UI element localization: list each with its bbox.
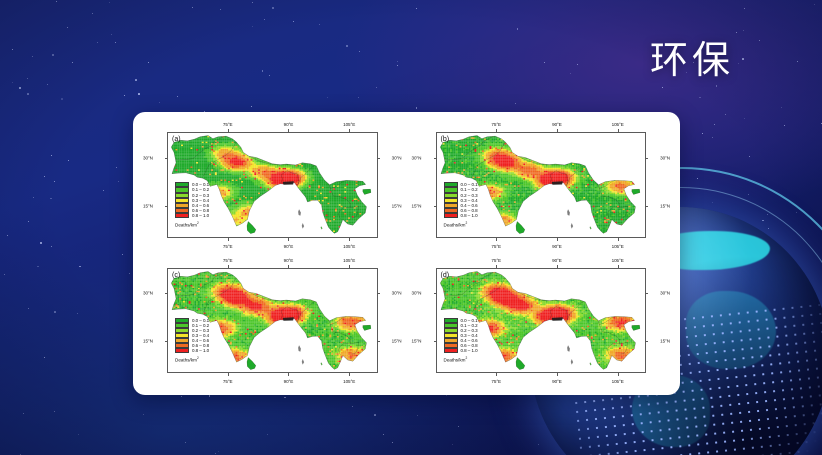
x-tick-top: 75°E bbox=[223, 258, 233, 263]
panel-tag: (a) bbox=[172, 136, 181, 143]
slide-root: 环保 75°E75°E90°E90°E105°E105°E30°N30°N15°… bbox=[0, 0, 822, 455]
map-panel-d: 75°E75°E90°E90°E105°E105°E30°N30°N15°N15… bbox=[410, 254, 673, 388]
legend-label: 0.8 – 1.0 bbox=[461, 213, 478, 218]
page-title: 环保 bbox=[650, 40, 734, 84]
legend-label: 0.8 – 1.0 bbox=[192, 213, 209, 218]
legend-row: 0.8 – 1.0 bbox=[444, 348, 478, 353]
x-tick-top: 90°E bbox=[284, 122, 294, 127]
y-tick-left: 15°N bbox=[412, 339, 422, 344]
panel-tag: (b) bbox=[441, 136, 450, 143]
x-tick-bottom: 75°E bbox=[223, 244, 233, 249]
y-tick-left: 30°N bbox=[143, 155, 153, 160]
panel-tag: (d) bbox=[441, 272, 450, 279]
map-panel-grid: 75°E75°E90°E90°E105°E105°E30°N30°N15°N15… bbox=[141, 118, 672, 387]
map-axis-box: (a)0.0 – 0.10.1 – 0.20.2 – 0.30.3 – 0.40… bbox=[167, 132, 378, 238]
x-tick-bottom: 75°E bbox=[491, 379, 501, 384]
map-panel-c: 75°E75°E90°E90°E105°E105°E30°N30°N15°N15… bbox=[141, 254, 404, 388]
x-tick-mark bbox=[349, 238, 350, 241]
y-tick-right: 30°N bbox=[392, 155, 402, 160]
x-tick-top: 105°E bbox=[612, 122, 624, 127]
x-tick-top: 75°E bbox=[223, 122, 233, 127]
x-tick-mark bbox=[288, 373, 289, 376]
map-legend: 0.0 – 0.10.1 – 0.20.2 – 0.30.3 – 0.40.4 … bbox=[175, 182, 209, 227]
x-tick-bottom: 105°E bbox=[612, 244, 624, 249]
x-tick-top: 105°E bbox=[343, 122, 355, 127]
legend-swatch bbox=[175, 348, 189, 353]
map-panel-b: 75°E75°E90°E90°E105°E105°E30°N30°N15°N15… bbox=[410, 118, 673, 252]
y-tick-left: 15°N bbox=[143, 203, 153, 208]
legend-row: 0.8 – 1.0 bbox=[175, 213, 209, 218]
y-tick-right: 15°N bbox=[660, 203, 670, 208]
x-tick-mark bbox=[349, 373, 350, 376]
map-legend: 0.0 – 0.10.1 – 0.20.2 – 0.30.3 – 0.40.4 … bbox=[444, 182, 478, 227]
x-tick-mark bbox=[496, 373, 497, 376]
legend-swatch bbox=[444, 213, 458, 218]
x-tick-bottom: 75°E bbox=[491, 244, 501, 249]
map-legend: 0.0 – 0.10.1 – 0.20.2 – 0.30.3 – 0.40.4 … bbox=[444, 318, 478, 363]
y-tick-right: 15°N bbox=[660, 339, 670, 344]
x-tick-mark bbox=[618, 238, 619, 241]
map-panel-a: 75°E75°E90°E90°E105°E105°E30°N30°N15°N15… bbox=[141, 118, 404, 252]
x-tick-top: 75°E bbox=[491, 122, 501, 127]
x-tick-top: 90°E bbox=[552, 258, 562, 263]
x-tick-mark bbox=[228, 238, 229, 241]
y-tick-left: 30°N bbox=[143, 291, 153, 296]
legend-unit: Deaths/km2 bbox=[175, 356, 209, 363]
x-tick-bottom: 105°E bbox=[343, 379, 355, 384]
y-tick-left: 15°N bbox=[412, 203, 422, 208]
x-tick-top: 90°E bbox=[552, 122, 562, 127]
map-axis-box: (b)0.0 – 0.10.1 – 0.20.2 – 0.30.3 – 0.40… bbox=[436, 132, 647, 238]
map-axis-box: (c)0.0 – 0.10.1 – 0.20.2 – 0.30.3 – 0.40… bbox=[167, 268, 378, 374]
x-tick-mark bbox=[496, 238, 497, 241]
legend-unit: Deaths/km2 bbox=[444, 356, 478, 363]
y-tick-right: 30°N bbox=[660, 155, 670, 160]
legend-unit: Deaths/km2 bbox=[444, 221, 478, 228]
x-tick-bottom: 90°E bbox=[552, 244, 562, 249]
x-tick-mark bbox=[288, 238, 289, 241]
x-tick-top: 90°E bbox=[284, 258, 294, 263]
legend-unit: Deaths/km2 bbox=[175, 221, 209, 228]
map-legend: 0.0 – 0.10.1 – 0.20.2 – 0.30.3 – 0.40.4 … bbox=[175, 318, 209, 363]
map-axis-box: (d)0.0 – 0.10.1 – 0.20.2 – 0.30.3 – 0.40… bbox=[436, 268, 647, 374]
legend-swatch bbox=[175, 213, 189, 218]
y-tick-left: 30°N bbox=[412, 155, 422, 160]
x-tick-mark bbox=[228, 373, 229, 376]
legend-swatch bbox=[444, 348, 458, 353]
y-tick-right: 15°N bbox=[392, 339, 402, 344]
y-tick-right: 30°N bbox=[660, 291, 670, 296]
panel-tag: (c) bbox=[172, 272, 180, 279]
x-tick-top: 75°E bbox=[491, 258, 501, 263]
figure-card: 75°E75°E90°E90°E105°E105°E30°N30°N15°N15… bbox=[133, 112, 680, 395]
legend-label: 0.8 – 1.0 bbox=[192, 348, 209, 353]
y-tick-left: 30°N bbox=[412, 291, 422, 296]
x-tick-mark bbox=[557, 373, 558, 376]
legend-row: 0.8 – 1.0 bbox=[444, 213, 478, 218]
x-tick-mark bbox=[618, 373, 619, 376]
x-tick-bottom: 90°E bbox=[552, 379, 562, 384]
y-tick-left: 15°N bbox=[143, 339, 153, 344]
x-tick-bottom: 90°E bbox=[284, 244, 294, 249]
x-tick-top: 105°E bbox=[612, 258, 624, 263]
x-tick-bottom: 105°E bbox=[343, 244, 355, 249]
x-tick-bottom: 105°E bbox=[612, 379, 624, 384]
y-tick-right: 30°N bbox=[392, 291, 402, 296]
x-tick-mark bbox=[557, 238, 558, 241]
y-tick-right: 15°N bbox=[392, 203, 402, 208]
x-tick-top: 105°E bbox=[343, 258, 355, 263]
legend-label: 0.8 – 1.0 bbox=[461, 348, 478, 353]
x-tick-bottom: 75°E bbox=[223, 379, 233, 384]
legend-row: 0.8 – 1.0 bbox=[175, 348, 209, 353]
x-tick-bottom: 90°E bbox=[284, 379, 294, 384]
